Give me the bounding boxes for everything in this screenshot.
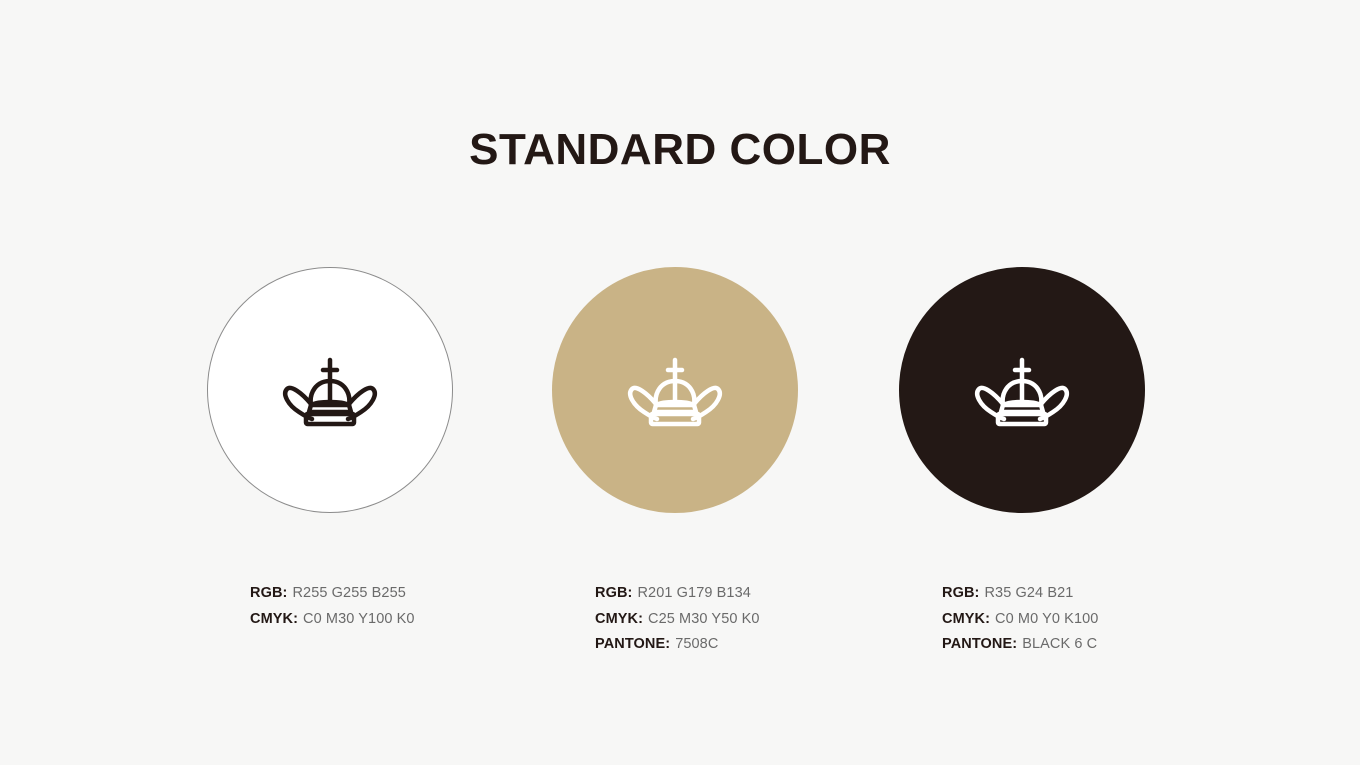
spec-line-rgb: RGB:R255 G255 B255 <box>250 581 550 607</box>
spec-label: PANTONE: <box>942 636 1017 652</box>
spec-value: R201 G179 B134 <box>637 585 750 601</box>
spec-label: RGB: <box>942 585 979 601</box>
spec-value: BLACK 6 C <box>1022 636 1097 652</box>
spec-line-cmyk: CMYK:C0 M0 Y0 K100 <box>942 607 1242 633</box>
spec-line-rgb: RGB:R201 G179 B134 <box>595 581 895 607</box>
crown-logo-icon <box>280 356 380 428</box>
swatch-circle-black <box>899 267 1145 513</box>
spec-value: C0 M0 Y0 K100 <box>995 611 1098 627</box>
swatch-specs-gold: RGB:R201 G179 B134 CMYK:C25 M30 Y50 K0 P… <box>595 581 895 658</box>
spec-value: 7508C <box>675 636 718 652</box>
swatch-circle-gold <box>552 267 798 513</box>
color-swatch-white: RGB:R255 G255 B255 CMYK:C0 M30 Y100 K0 <box>190 265 470 685</box>
color-swatch-row: RGB:R255 G255 B255 CMYK:C0 M30 Y100 K0 <box>0 265 1360 685</box>
crown-logo-icon <box>625 356 725 428</box>
standard-color-page: STANDARD COLOR <box>0 0 1360 765</box>
crown-logo-icon <box>972 356 1072 428</box>
spec-label: PANTONE: <box>595 636 670 652</box>
spec-label: RGB: <box>250 585 287 601</box>
swatch-circle-white <box>207 267 453 513</box>
spec-line-cmyk: CMYK:C25 M30 Y50 K0 <box>595 607 895 633</box>
spec-value: C25 M30 Y50 K0 <box>648 611 760 627</box>
spec-line-pantone: PANTONE:BLACK 6 C <box>942 632 1242 658</box>
swatch-specs-white: RGB:R255 G255 B255 CMYK:C0 M30 Y100 K0 <box>250 581 550 632</box>
page-title: STANDARD COLOR <box>0 121 1360 179</box>
spec-label: CMYK: <box>595 611 643 627</box>
color-swatch-black: RGB:R35 G24 B21 CMYK:C0 M0 Y0 K100 PANTO… <box>882 265 1162 685</box>
spec-label: CMYK: <box>942 611 990 627</box>
spec-value: R35 G24 B21 <box>984 585 1073 601</box>
spec-line-pantone: PANTONE:7508C <box>595 632 895 658</box>
spec-value: C0 M30 Y100 K0 <box>303 611 415 627</box>
spec-value: R255 G255 B255 <box>292 585 405 601</box>
spec-line-cmyk: CMYK:C0 M30 Y100 K0 <box>250 607 550 633</box>
spec-label: RGB: <box>595 585 632 601</box>
spec-line-rgb: RGB:R35 G24 B21 <box>942 581 1242 607</box>
swatch-specs-black: RGB:R35 G24 B21 CMYK:C0 M0 Y0 K100 PANTO… <box>942 581 1242 658</box>
color-swatch-gold: RGB:R201 G179 B134 CMYK:C25 M30 Y50 K0 P… <box>535 265 815 685</box>
spec-label: CMYK: <box>250 611 298 627</box>
